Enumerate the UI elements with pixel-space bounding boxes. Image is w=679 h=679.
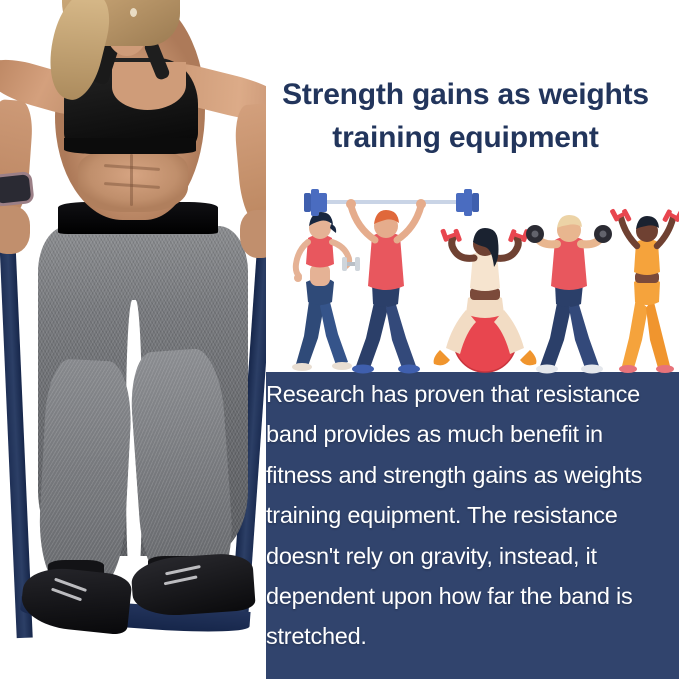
figure-ball-dumbbells: [434, 228, 537, 372]
left-forearm: [0, 99, 34, 222]
black-dumbbell-right: [594, 225, 612, 243]
abdomen: [78, 150, 188, 212]
left-sneaker: [19, 565, 133, 636]
black-dumbbell-left: [526, 225, 544, 243]
right-hand-grip: [240, 210, 266, 258]
left-hand-grip: [0, 206, 30, 254]
earring: [130, 8, 137, 17]
smart-watch: [0, 174, 31, 203]
sports-bra-underband: [64, 138, 196, 154]
figure-woman-dumbbell-curl: [292, 212, 360, 371]
figure-arms-raised: [609, 208, 679, 373]
exercise-figures-illustration: [280, 186, 679, 374]
figure-shoulder-press: [526, 215, 612, 374]
left-leg: [36, 358, 134, 592]
description-text: Research has proven that resistance band…: [266, 374, 670, 657]
page-title: Strength gains as weights training equip…: [258, 74, 673, 159]
product-banner: Strength gains as weights training equip…: [0, 0, 679, 679]
model-photo: [0, 0, 266, 679]
